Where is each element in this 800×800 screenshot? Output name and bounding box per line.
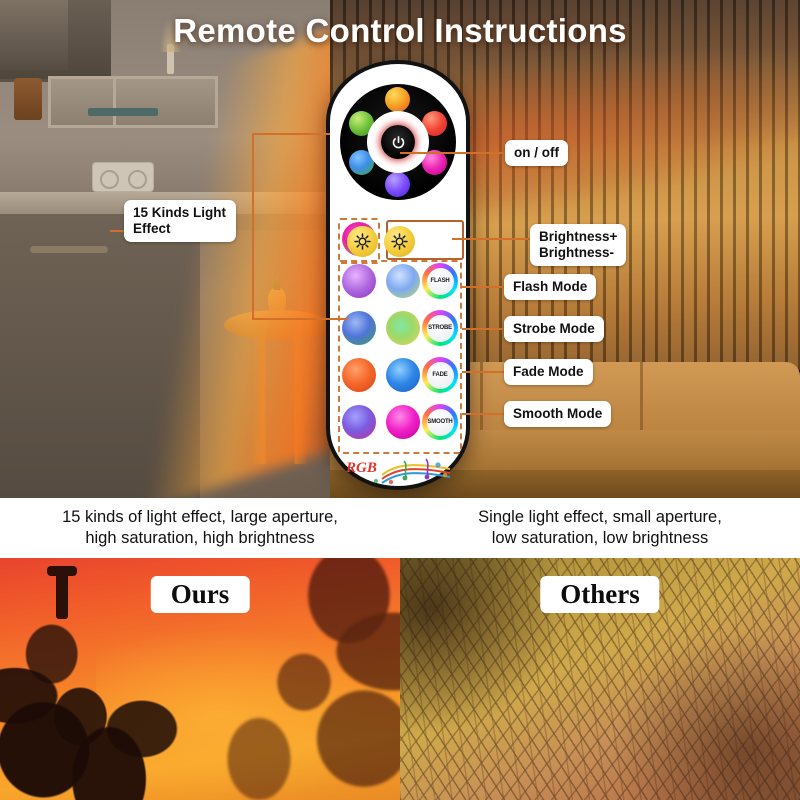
- room-background-photo: [0, 0, 330, 498]
- others-dark-corner-2: [610, 630, 800, 800]
- leader-line-light-effect-vertical: [252, 133, 254, 231]
- rgb-logo-text: RGB: [345, 460, 377, 476]
- callout-smooth-mode: Smooth Mode: [504, 401, 611, 427]
- ours-photo: Ours: [0, 558, 400, 800]
- power-icon: [391, 135, 406, 150]
- leader-line-on-off: [400, 152, 508, 154]
- fade-mode-label: FADE: [427, 362, 454, 389]
- leader-line-light-effect-dial: [252, 133, 330, 135]
- strobe-mode-button[interactable]: STROBE: [422, 310, 458, 346]
- callout-on-off: on / off: [505, 140, 568, 166]
- rgb-logo-icon: RGB: [342, 455, 462, 489]
- others-badge: Others: [540, 576, 659, 613]
- ours-caption: 15 kinds of light effect, large aperture…: [0, 498, 400, 558]
- color-button-8[interactable]: [386, 405, 420, 439]
- smooth-mode-button[interactable]: SMOOTH: [422, 404, 458, 440]
- dial-color-top-button[interactable]: [385, 87, 410, 112]
- brightness-row: [342, 222, 462, 260]
- page-title: Remote Control Instructions: [0, 12, 800, 50]
- brightness-down-button[interactable]: [384, 226, 415, 257]
- callout-fade-mode: Fade Mode: [504, 359, 593, 385]
- others-caption: Single light effect, small aperture, low…: [400, 498, 800, 558]
- cushion-seam: [480, 362, 483, 436]
- strobe-mode-label: STROBE: [427, 315, 454, 342]
- dial-color-bottom-button[interactable]: [385, 172, 410, 197]
- brightness-up-button[interactable]: [347, 226, 378, 257]
- color-button-4[interactable]: [386, 311, 420, 345]
- callout-brightness: Brightness+ Brightness-: [530, 224, 626, 266]
- cushion-seam: [640, 362, 643, 436]
- top-scene: FLASH STROBE FADE SMOOTH RGB: [0, 0, 800, 498]
- color-button-3[interactable]: [342, 311, 376, 345]
- fade-mode-button[interactable]: FADE: [422, 357, 458, 393]
- canister: [14, 78, 42, 120]
- flash-mode-button[interactable]: FLASH: [422, 263, 458, 299]
- leader-line-strobe: [462, 328, 510, 330]
- sun-icon: [390, 232, 409, 251]
- ours-lamp-stem: [56, 573, 68, 619]
- ours-caption-line-2: high saturation, high brightness: [85, 528, 314, 549]
- ours-caption-line-1: 15 kinds of light effect, large aperture…: [62, 507, 338, 528]
- leader-line-fade: [462, 371, 510, 373]
- ours-plant-silhouette: [0, 600, 187, 800]
- sun-icon: [353, 232, 372, 251]
- color-button-1[interactable]: [342, 264, 376, 298]
- leader-line-smooth: [462, 413, 510, 415]
- color-button-2[interactable]: [386, 264, 420, 298]
- smooth-mode-label: SMOOTH: [427, 409, 454, 436]
- color-button-5[interactable]: [342, 358, 376, 392]
- comparison-caption-band: 15 kinds of light effect, large aperture…: [0, 498, 800, 558]
- color-dial[interactable]: [340, 84, 456, 200]
- leader-line-light-effect-grid: [252, 318, 348, 320]
- others-photo: Others: [400, 558, 800, 800]
- others-caption-line-2: low saturation, low brightness: [492, 528, 708, 549]
- others-caption-line-1: Single light effect, small aperture,: [478, 507, 722, 528]
- rgb-music-logo: RGB: [330, 454, 474, 490]
- leader-line-flash: [462, 286, 510, 288]
- ours-badge: Ours: [151, 576, 250, 613]
- infographic-page: FLASH STROBE FADE SMOOTH RGB: [0, 0, 800, 800]
- callout-strobe-mode: Strobe Mode: [504, 316, 604, 342]
- remote-control: FLASH STROBE FADE SMOOTH RGB: [326, 60, 470, 490]
- callout-flash-mode: Flash Mode: [504, 274, 596, 300]
- flash-mode-label: FLASH: [427, 268, 454, 295]
- leader-line-light-effect-vertical2: [252, 230, 254, 320]
- color-button-6[interactable]: [386, 358, 420, 392]
- color-button-7[interactable]: [342, 405, 376, 439]
- leader-line-brightness: [452, 238, 530, 240]
- callout-light-effect: 15 Kinds Light Effect: [124, 200, 236, 242]
